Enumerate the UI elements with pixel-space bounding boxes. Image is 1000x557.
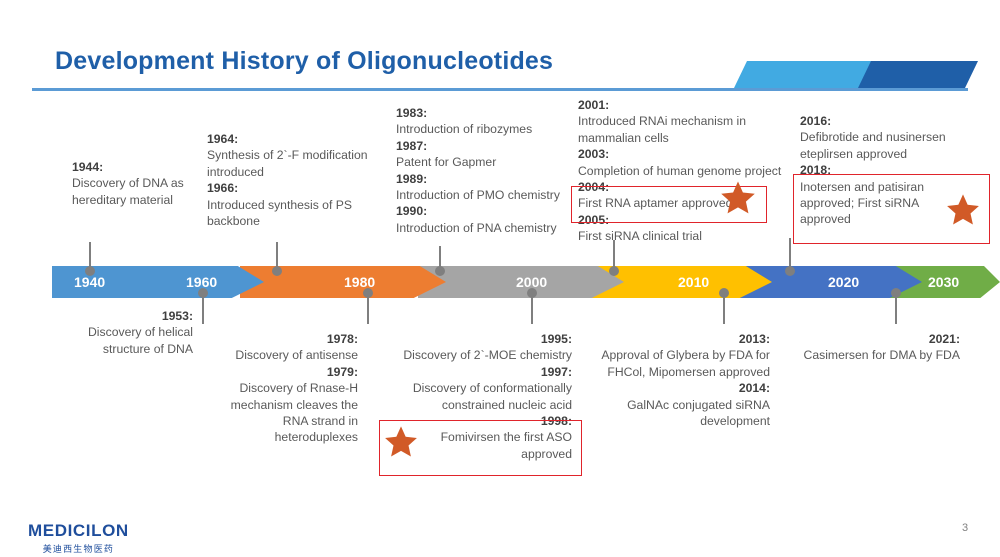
- event-year-1944: 1944:: [72, 159, 192, 175]
- event-text-1979: Discovery of Rnase-H mechanism cleaves t…: [212, 380, 358, 446]
- medicilon-logo: MEDICILON 美迪西生物医药: [28, 521, 129, 555]
- event-year-2014: 2014:: [580, 380, 770, 396]
- event-block-1953: 1953: Discovery of helical structure of …: [56, 308, 193, 357]
- timeline-pin-1944: [85, 242, 95, 276]
- event-year-1964: 1964:: [207, 131, 382, 147]
- header-accent-dark: [858, 61, 978, 88]
- star-icon-2018b: [944, 192, 982, 228]
- event-year-2021: 2021:: [800, 331, 960, 347]
- page-number: 3: [962, 522, 968, 534]
- event-block-2021: 2021: Casimersen for DMA by FDA: [800, 331, 960, 364]
- logo-wordmark: MEDICILON: [28, 521, 129, 541]
- event-text-1964: Synthesis of 2`-F modification introduce…: [207, 147, 382, 180]
- event-year-1997: 1997:: [378, 364, 572, 380]
- event-block-1978-1979: 1978: Discovery of antisense 1979: Disco…: [212, 331, 358, 446]
- star-icon-2004: [718, 179, 758, 217]
- event-text-1953: Discovery of helical structure of DNA: [56, 324, 193, 357]
- event-year-1983: 1983:: [396, 105, 586, 121]
- event-year-1995: 1995:: [378, 331, 572, 347]
- event-block-1983-1990: 1983: Introduction of ribozymes 1987: Pa…: [396, 105, 586, 236]
- event-year-2001: 2001:: [578, 97, 778, 113]
- event-text-2014: GalNAc conjugated siRNA development: [580, 397, 770, 430]
- event-text-1997: Discovery of conformationally constraine…: [378, 380, 572, 413]
- header-divider: [32, 88, 968, 91]
- timeline-pin-1983: [435, 246, 445, 276]
- event-year-1989: 1989:: [396, 171, 586, 187]
- timeline-pin-1964: [272, 242, 282, 276]
- timeline-pin-2013: [719, 288, 729, 324]
- event-text-1987: Patent for Gapmer: [396, 154, 586, 170]
- event-text-2001: Introduced RNAi mechanism in mammalian c…: [578, 113, 746, 146]
- timeline-label-1940: 1940: [74, 274, 105, 290]
- event-year-1979: 1979:: [212, 364, 358, 380]
- timeline-pin-2005: [609, 240, 619, 276]
- event-text-1989: Introduction of PMO chemistry: [396, 187, 586, 203]
- event-text-1944: Discovery of DNA as hereditary material: [72, 175, 192, 208]
- event-text-2013: Approval of Glybera by FDA for FHCol, Mi…: [580, 347, 770, 380]
- event-text-2005: First siRNA clinical trial: [578, 228, 778, 244]
- event-block-1944: 1944: Discovery of DNA as hereditary mat…: [72, 159, 192, 208]
- event-text-1983: Introduction of ribozymes: [396, 121, 586, 137]
- event-year-2013: 2013:: [580, 331, 770, 347]
- timeline-pin-1995: [527, 288, 537, 324]
- slide-root: Development History of Oligonucleotides …: [0, 0, 1000, 557]
- event-year-1987: 1987:: [396, 138, 586, 154]
- timeline-segment-2000[interactable]: 2000: [418, 266, 624, 298]
- event-block-1964-1966: 1964: Synthesis of 2`-F modification int…: [207, 131, 382, 229]
- timeline-label-2020: 2020: [828, 274, 859, 290]
- event-text-2003: Completion of human genome project: [578, 163, 778, 179]
- event-year-1953: 1953:: [56, 308, 193, 324]
- event-text-2021: Casimersen for DMA by FDA: [800, 347, 960, 363]
- event-year-1990: 1990:: [396, 203, 586, 219]
- timeline-segment-1980[interactable]: 1980: [240, 266, 446, 298]
- event-year-2003: 2003:: [578, 146, 778, 162]
- timeline-label-2010: 2010: [678, 274, 709, 290]
- event-text-1978: Discovery of antisense: [212, 347, 358, 363]
- event-block-2013-2014: 2013: Approval of Glybera by FDA for FHC…: [580, 331, 770, 429]
- star-icon-1998: [382, 424, 420, 460]
- page-title: Development History of Oligonucleotides: [55, 47, 553, 76]
- event-year-1966: 1966:: [207, 180, 382, 196]
- timeline-bar: 2030 2020 2010 2000 1980 1940 1960: [0, 266, 1000, 298]
- event-text-2016: Defibrotide and nusinersen eteplirsen ap…: [800, 129, 950, 162]
- event-text-1990: Introduction of PNA chemistry: [396, 220, 586, 236]
- event-year-1978: 1978:: [212, 331, 358, 347]
- timeline-label-2030: 2030: [928, 274, 959, 290]
- timeline-pin-2021: [891, 288, 901, 324]
- timeline-pin-1978: [363, 288, 373, 324]
- timeline-pin-1953: [198, 288, 208, 324]
- event-year-2016: 2016:: [800, 113, 950, 129]
- event-text-1995: Discovery of 2`-MOE chemistry: [378, 347, 572, 363]
- event-text-1966: Introduced synthesis of PS backbone: [207, 197, 382, 230]
- timeline-segment-1940[interactable]: 1940 1960: [52, 266, 264, 298]
- logo-subtitle: 美迪西生物医药: [28, 542, 129, 555]
